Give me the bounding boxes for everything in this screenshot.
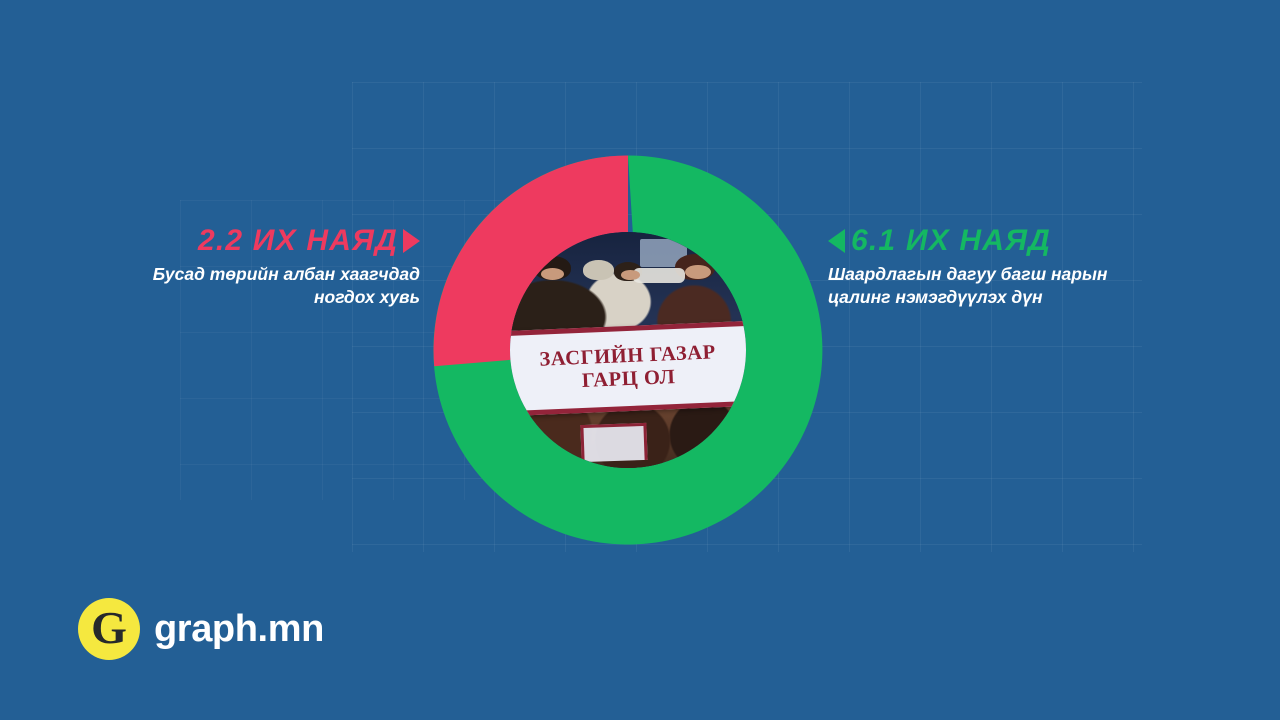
protest-banner-line-2: ГАРЦ ОЛ xyxy=(581,368,675,393)
photo-face xyxy=(541,268,565,280)
triangle-right-icon xyxy=(403,229,420,253)
photo-person xyxy=(583,260,614,280)
left-value: 2.2 ИХ НАЯД xyxy=(198,224,398,257)
infographic-canvas: ЗАСГИЙН ГАЗАР ГАРЦ ОЛ 2.2 ИХ НАЯД Бусад … xyxy=(0,0,1280,720)
brand-logo[interactable]: G graph.mn xyxy=(78,598,324,660)
right-description: Шаардлагын дагуу багш нарын цалинг нэмэг… xyxy=(828,263,1148,309)
protest-banner-line-1: ЗАСГИЙН ГАЗАР xyxy=(539,343,716,372)
photo-person xyxy=(633,268,685,283)
logo-letter-g: G xyxy=(91,605,127,651)
logo-badge-icon: G xyxy=(78,598,140,660)
logo-wordmark: graph.mn xyxy=(154,608,324,651)
right-value: 6.1 ИХ НАЯД xyxy=(851,224,1051,257)
left-callout: 2.2 ИХ НАЯД Бусад төрийн албан хаагчдад … xyxy=(110,224,420,309)
photo-foreground xyxy=(510,407,746,468)
photo-banner-lower xyxy=(580,423,647,462)
left-value-row: 2.2 ИХ НАЯД xyxy=(110,224,420,257)
photo-content: ЗАСГИЙН ГАЗАР ГАРЦ ОЛ xyxy=(510,232,746,468)
photo-face xyxy=(621,270,640,280)
triangle-left-icon xyxy=(828,229,845,253)
protest-banner: ЗАСГИЙН ГАЗАР ГАРЦ ОЛ xyxy=(510,321,746,417)
center-photo: ЗАСГИЙН ГАЗАР ГАРЦ ОЛ xyxy=(510,232,746,468)
left-description: Бусад төрийн албан хаагчдад ногдох хувь xyxy=(110,263,420,309)
right-value-row: 6.1 ИХ НАЯД xyxy=(828,224,1148,257)
right-callout: 6.1 ИХ НАЯД Шаардлагын дагуу багш нарын … xyxy=(828,224,1148,309)
photo-face xyxy=(685,265,711,279)
